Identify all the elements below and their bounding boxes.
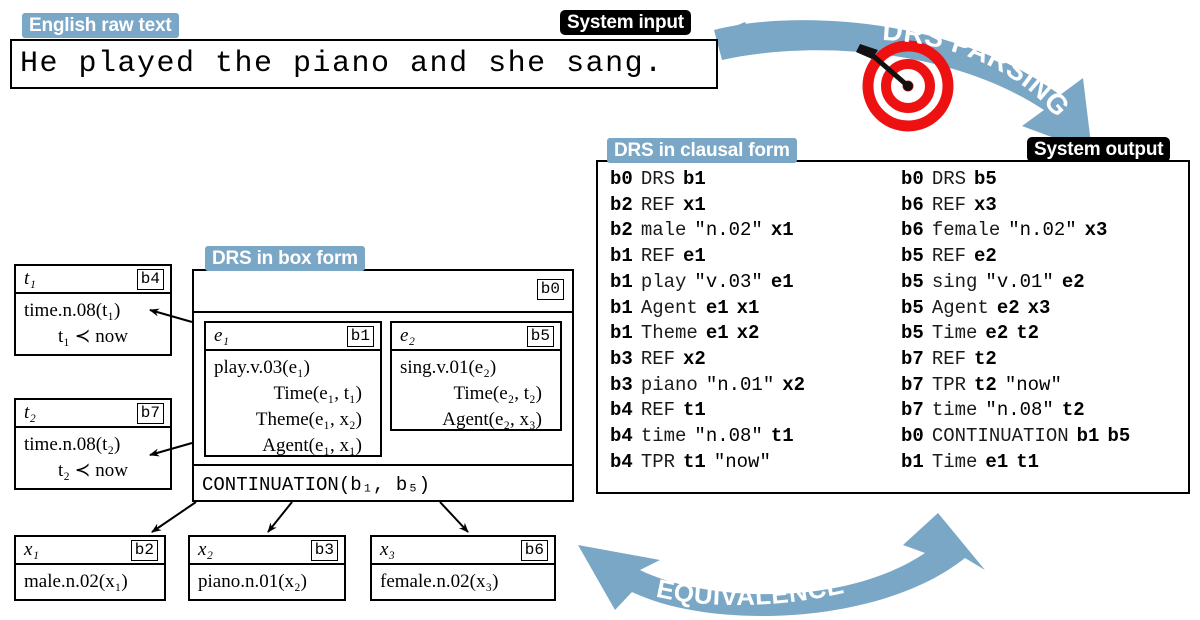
clause-argument: b1 xyxy=(683,168,706,190)
clause-operator: REF xyxy=(932,245,966,267)
clause-line: b5REFe2 xyxy=(901,244,1188,270)
diagram-canvas: DRS PARSING EQUIVALENCE English raw text… xyxy=(0,0,1200,620)
clause-operator: Agent xyxy=(932,297,989,319)
clause-line: b0DRSb1 xyxy=(610,167,897,193)
clause-operator: REF xyxy=(641,399,675,421)
clause-box-var: b0 xyxy=(610,168,633,190)
clause-operator: TPR xyxy=(641,451,675,473)
clause-argument: e2 xyxy=(974,245,997,267)
clause-box-var: b0 xyxy=(901,425,924,447)
clause-line: b2REFx1 xyxy=(610,193,897,219)
clause-sense: "n.08" xyxy=(694,425,762,447)
clause-sense: "n.01" xyxy=(706,374,774,396)
arrow-to-x3 xyxy=(440,502,468,532)
clause-box-var: b0 xyxy=(901,168,924,190)
tag-system-input: System input xyxy=(560,10,691,35)
clause-operator: male xyxy=(641,219,687,241)
clause-operator: DRS xyxy=(932,168,966,190)
clause-argument: e1 xyxy=(985,451,1008,473)
clause-line: b4time"n.08"t1 xyxy=(610,424,897,450)
clause-operator: female xyxy=(932,219,1000,241)
clause-box-var: b5 xyxy=(901,271,924,293)
clause-argument: t2 xyxy=(974,348,997,370)
clause-box-var: b3 xyxy=(610,374,633,396)
clause-box-var: b1 xyxy=(610,297,633,319)
clausal-column-right: b0DRSb5b6REFx3b6female"n.02"x3b5REFe2b5s… xyxy=(897,162,1188,492)
clause-line: b3piano"n.01"x2 xyxy=(610,373,897,399)
clause-argument: t2 xyxy=(974,374,997,396)
clause-argument: x1 xyxy=(737,297,760,319)
clause-sense: "v.03" xyxy=(694,271,762,293)
tag-drs-box-form: DRS in box form xyxy=(205,246,365,271)
clause-argument: e1 xyxy=(683,245,706,267)
clause-line: b5sing"v.01"e2 xyxy=(901,270,1188,296)
clause-argument: t1 xyxy=(1016,451,1039,473)
clause-argument: e1 xyxy=(706,297,729,319)
raw-text-value: He played the piano and she sang. xyxy=(12,47,664,81)
clause-line: b7TPRt2"now" xyxy=(901,373,1188,399)
clause-argument: e2 xyxy=(985,322,1008,344)
clause-line: b5Agente2x3 xyxy=(901,296,1188,322)
clause-operator: piano xyxy=(641,374,698,396)
arrow-to-t2 xyxy=(150,443,192,455)
clause-argument: b5 xyxy=(974,168,997,190)
clause-sense: "n.02" xyxy=(1008,219,1076,241)
clause-line: b1Timee1t1 xyxy=(901,450,1188,476)
clause-line: b4TPRt1"now" xyxy=(610,450,897,476)
clause-sense: "v.01" xyxy=(985,271,1053,293)
clause-operator: Theme xyxy=(641,322,698,344)
arrow-to-x2 xyxy=(268,502,292,532)
clause-box-var: b3 xyxy=(610,348,633,370)
clause-box-var: b4 xyxy=(610,425,633,447)
clause-constant: "now" xyxy=(714,451,771,473)
clause-operator: REF xyxy=(932,348,966,370)
clause-sense: "n.08" xyxy=(985,399,1053,421)
clause-box-var: b5 xyxy=(901,322,924,344)
clause-line: b6REFx3 xyxy=(901,193,1188,219)
raw-text-box: He played the piano and she sang. xyxy=(10,39,718,89)
clause-line: b5Timee2t2 xyxy=(901,321,1188,347)
clause-line: b0DRSb5 xyxy=(901,167,1188,193)
clause-argument: t1 xyxy=(683,451,706,473)
clause-argument: x3 xyxy=(1085,219,1108,241)
clause-operator: time xyxy=(932,399,978,421)
clause-box-var: b5 xyxy=(901,297,924,319)
clause-operator: REF xyxy=(641,194,675,216)
clause-operator: sing xyxy=(932,271,978,293)
tag-system-output: System output xyxy=(1027,137,1170,162)
clause-argument: x2 xyxy=(737,322,760,344)
clause-operator: play xyxy=(641,271,687,293)
clause-box-var: b4 xyxy=(610,451,633,473)
clause-argument: t2 xyxy=(1062,399,1085,421)
clause-argument: x1 xyxy=(771,219,794,241)
clause-box-var: b1 xyxy=(610,271,633,293)
clause-argument: x3 xyxy=(974,194,997,216)
clause-box-var: b2 xyxy=(610,194,633,216)
clause-line: b3REFx2 xyxy=(610,347,897,373)
clause-line: b7REFt2 xyxy=(901,347,1188,373)
arrow-to-t1 xyxy=(150,310,192,322)
clause-operator: CONTINUATION xyxy=(932,425,1069,447)
clausal-column-left: b0DRSb1b2REFx1b2male"n.02"x1b1REFe1b1pla… xyxy=(598,162,897,492)
clause-argument: x1 xyxy=(683,194,706,216)
clause-box-var: b1 xyxy=(901,451,924,473)
clause-line: b1REFe1 xyxy=(610,244,897,270)
tag-drs-clausal-form: DRS in clausal form xyxy=(607,138,797,163)
clause-operator: REF xyxy=(932,194,966,216)
arrow-to-x1 xyxy=(152,502,196,532)
clause-box-var: b1 xyxy=(610,245,633,267)
clause-line: b1Agente1x1 xyxy=(610,296,897,322)
clause-box-var: b6 xyxy=(901,219,924,241)
clause-operator: REF xyxy=(641,245,675,267)
clause-operator: Time xyxy=(932,451,978,473)
clause-operator: TPR xyxy=(932,374,966,396)
clause-box-var: b2 xyxy=(610,219,633,241)
clause-line: b2male"n.02"x1 xyxy=(610,218,897,244)
clause-argument: b1 xyxy=(1077,425,1100,447)
clause-argument: e1 xyxy=(771,271,794,293)
clause-box-var: b7 xyxy=(901,374,924,396)
clause-line: b0CONTINUATIONb1b5 xyxy=(901,424,1188,450)
clause-box-var: b7 xyxy=(901,348,924,370)
clause-box-var: b7 xyxy=(901,399,924,421)
clause-argument: x2 xyxy=(683,348,706,370)
clause-operator: Agent xyxy=(641,297,698,319)
clause-argument: x3 xyxy=(1028,297,1051,319)
clause-operator: time xyxy=(641,425,687,447)
clause-sense: "n.02" xyxy=(694,219,762,241)
clause-box-var: b5 xyxy=(901,245,924,267)
clause-operator: Time xyxy=(932,322,978,344)
clause-argument: e2 xyxy=(997,297,1020,319)
clause-line: b7time"n.08"t2 xyxy=(901,398,1188,424)
clause-argument: e2 xyxy=(1062,271,1085,293)
tag-english-raw-text: English raw text xyxy=(22,13,179,38)
clause-argument: b5 xyxy=(1107,425,1130,447)
clause-box-var: b1 xyxy=(610,322,633,344)
clause-constant: "now" xyxy=(1005,374,1062,396)
clause-argument: t2 xyxy=(1016,322,1039,344)
bullseye-target-icon xyxy=(852,30,956,134)
clause-argument: t1 xyxy=(771,425,794,447)
clause-box-var: b6 xyxy=(901,194,924,216)
clause-line: b4REFt1 xyxy=(610,398,897,424)
clause-argument: e1 xyxy=(706,322,729,344)
clause-argument: x2 xyxy=(782,374,805,396)
clause-operator: DRS xyxy=(641,168,675,190)
clause-line: b1Themee1x2 xyxy=(610,321,897,347)
drs-clausal-form-box: b0DRSb1b2REFx1b2male"n.02"x1b1REFe1b1pla… xyxy=(596,160,1190,494)
clause-operator: REF xyxy=(641,348,675,370)
clause-argument: t1 xyxy=(683,399,706,421)
clause-line: b1play"v.03"e1 xyxy=(610,270,897,296)
clause-line: b6female"n.02"x3 xyxy=(901,218,1188,244)
clause-box-var: b4 xyxy=(610,399,633,421)
